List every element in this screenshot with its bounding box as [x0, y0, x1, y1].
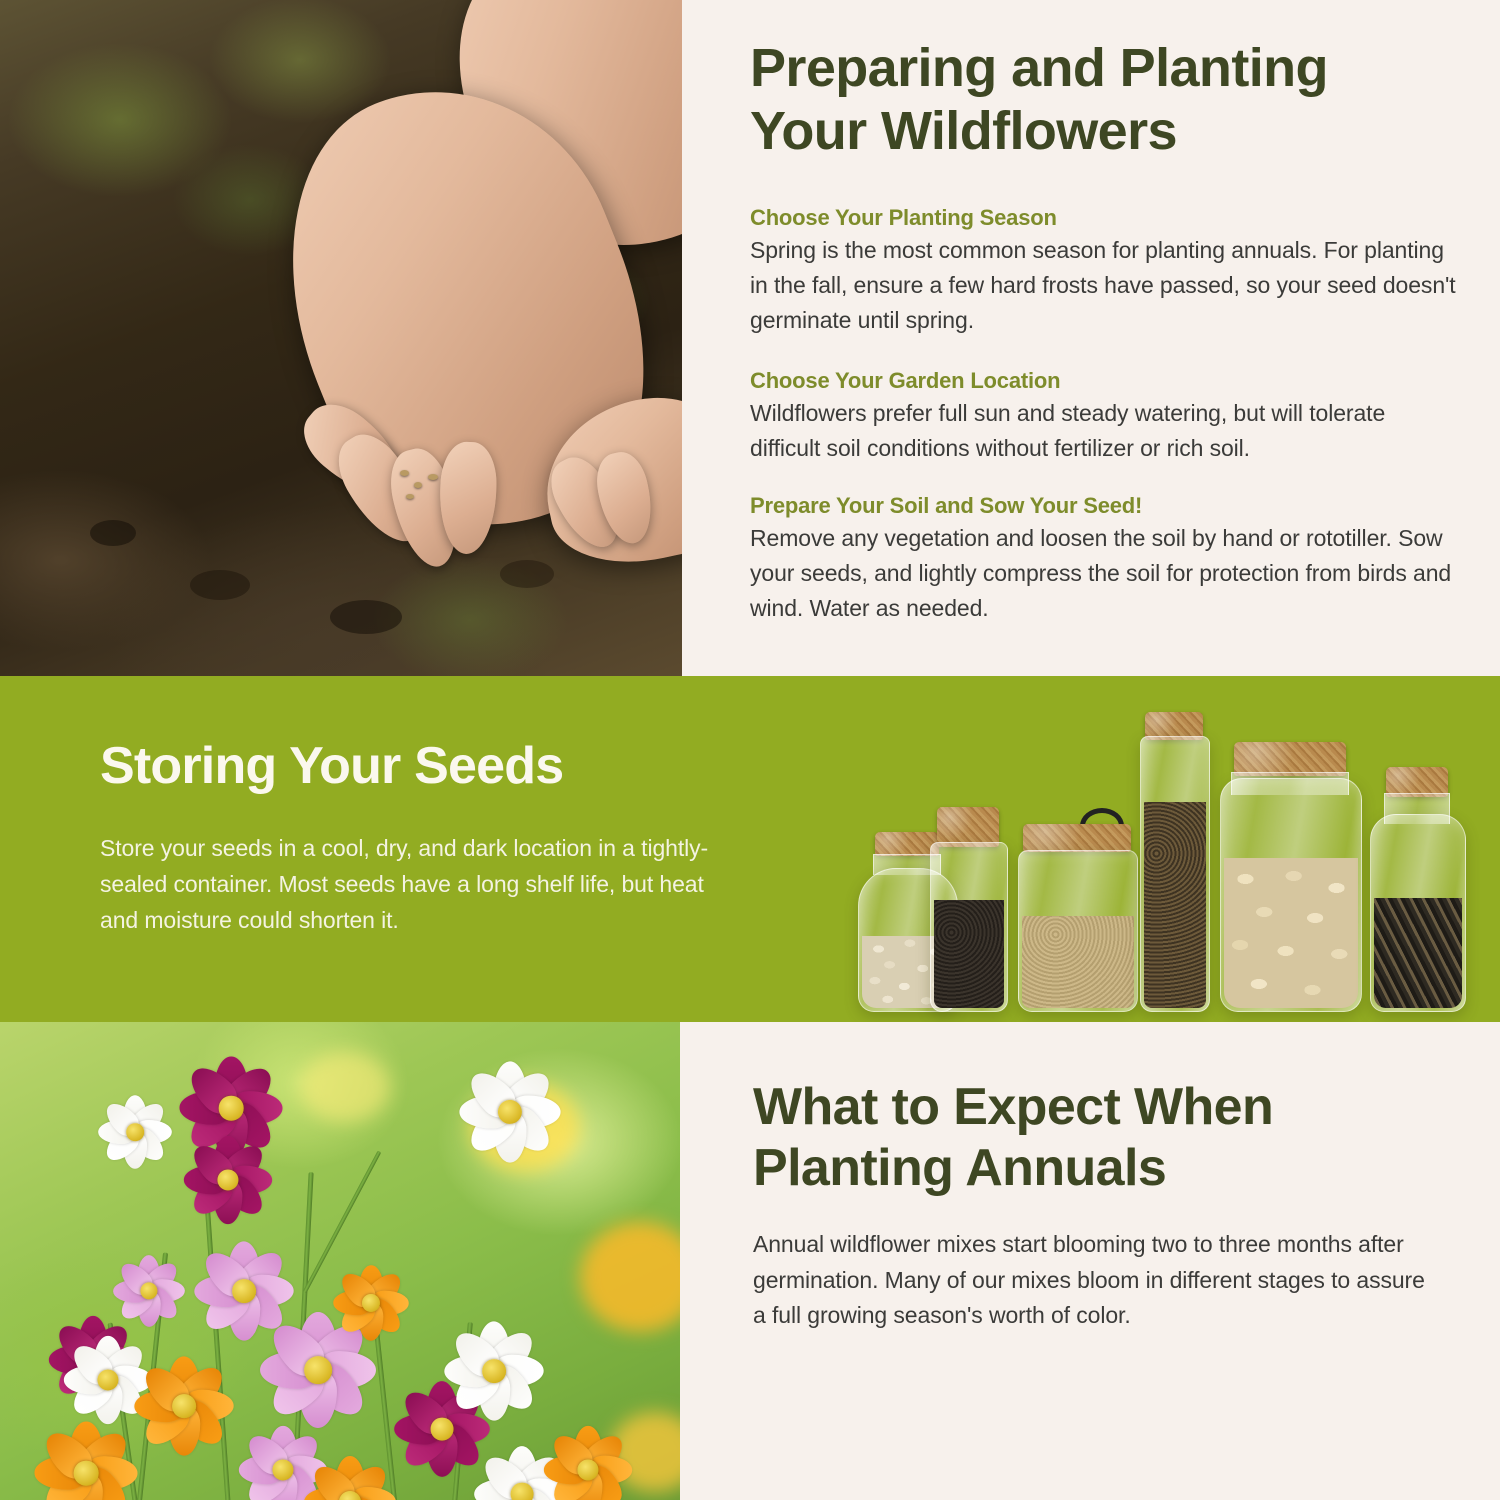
wildflower-photo — [0, 1022, 680, 1500]
soil-clod-3 — [330, 600, 402, 634]
black-seed-jar — [930, 807, 1006, 1012]
subsection-prepare-soil: Prepare Your Soil and Sow Your Seed! Rem… — [750, 493, 1460, 626]
storing-seeds-band: Storing Your Seeds Store your seeds in a… — [0, 676, 1500, 1022]
cork-lid — [1234, 742, 1346, 776]
subsection-body: Spring is the most common season for pla… — [750, 233, 1460, 338]
subsection-planting-season: Choose Your Planting Season Spring is th… — [750, 205, 1460, 338]
bottom-title: What to Expect When Planting Annuals — [753, 1077, 1453, 1200]
cork-lid — [937, 807, 999, 847]
cork-lid — [1023, 824, 1131, 852]
jar-contents — [1022, 916, 1134, 1008]
page-title: Preparing and Planting Your Wildflowers — [750, 37, 1440, 162]
subsection-body: Remove any vegetation and loosen the soi… — [750, 521, 1460, 626]
subsection-heading: Choose Your Garden Location — [750, 368, 1460, 394]
flower-magenta-2 — [180, 1132, 276, 1228]
flower-orange-5 — [300, 1452, 400, 1500]
jar-contents — [1374, 898, 1462, 1008]
jar-contents — [934, 900, 1004, 1008]
subsection-garden-location: Choose Your Garden Location Wildflowers … — [750, 368, 1460, 466]
seed-2 — [414, 482, 422, 488]
flower-white-4 — [440, 1317, 548, 1425]
tall-tube-dark-seed-jar — [1140, 712, 1208, 1012]
bottom-body: Annual wildflower mixes start blooming t… — [753, 1227, 1433, 1334]
flower-white-1 — [95, 1092, 175, 1172]
jar-contents — [1224, 858, 1358, 1008]
band-body: Store your seeds in a cool, dry, and dar… — [100, 831, 740, 939]
preparing-planting-panel: Preparing and Planting Your Wildflowers … — [682, 0, 1500, 676]
soil-clod-4 — [500, 560, 554, 588]
subsection-heading: Prepare Your Soil and Sow Your Seed! — [750, 493, 1460, 519]
flower-orange-1 — [130, 1352, 238, 1460]
soil-clod-1 — [90, 520, 136, 546]
jar-contents — [1144, 802, 1206, 1008]
soil-clod-2 — [190, 570, 250, 600]
flower-orange-2 — [30, 1417, 142, 1500]
bokeh-yellow-2 — [300, 1052, 390, 1122]
bokeh-orange-1 — [580, 1222, 680, 1332]
subsection-body: Wildflowers prefer full sun and steady w… — [750, 396, 1460, 466]
flower-white-2 — [455, 1057, 565, 1167]
flower-orange-3 — [330, 1262, 412, 1344]
what-to-expect-panel: What to Expect When Planting Annuals Ann… — [680, 1022, 1500, 1500]
flower-pink-4 — [110, 1252, 188, 1330]
infographic-page: Preparing and Planting Your Wildflowers … — [0, 0, 1500, 1500]
band-title: Storing Your Seeds — [100, 736, 563, 796]
tan-seed-jar — [1018, 812, 1136, 1012]
sunflower-seed-jar — [1370, 767, 1464, 1012]
seed-jars-image — [840, 686, 1460, 1022]
soil-planting-photo — [0, 0, 682, 676]
seed-4 — [406, 494, 414, 499]
seed-1 — [400, 470, 409, 476]
subsection-heading: Choose Your Planting Season — [750, 205, 1460, 231]
pumpkin-seed-jar — [1220, 742, 1360, 1012]
seed-3 — [428, 474, 438, 480]
flower-orange-4 — [540, 1422, 636, 1500]
